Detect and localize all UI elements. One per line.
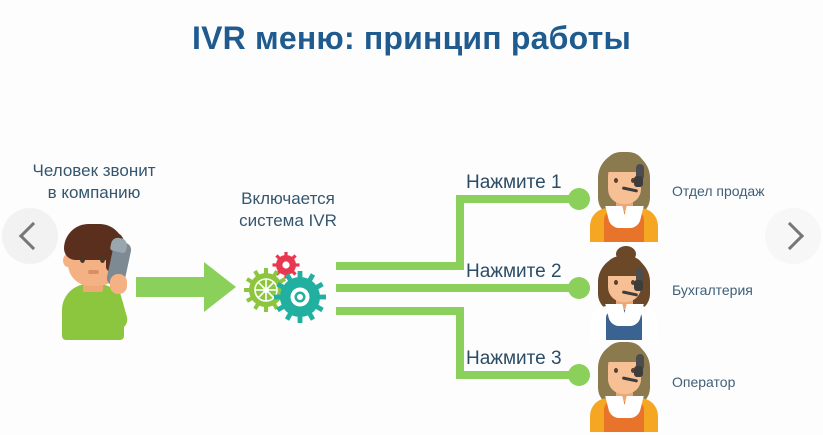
stage2-label: Включается система IVR [212, 188, 364, 232]
operator-orange-icon [588, 148, 660, 240]
wire-branch-1 [456, 195, 584, 203]
wire-trunk-bottom [336, 307, 464, 315]
stage1-label: Человек звонит в компанию [6, 160, 182, 204]
person-calling-icon [48, 222, 140, 340]
branch-3-department-label: Оператор [672, 371, 735, 393]
wire-riser-up [456, 195, 464, 267]
stage1-label-line1: Человек звонит [6, 160, 182, 182]
branch-2-press-label: Нажмите 2 [466, 261, 562, 283]
slide-stage: IVR меню: принцип работы Человек звонит … [0, 0, 823, 435]
branch-2-department-label: Бухгалтерия [672, 279, 753, 301]
stage2-label-line1: Включается [212, 188, 364, 210]
wire-branch-3 [456, 371, 584, 379]
operator-orange-icon [588, 338, 660, 430]
page-title: IVR меню: принцип работы [0, 20, 823, 57]
branch-1-endpoint-dot [568, 188, 590, 210]
branch-1-press-label: Нажмите 1 [466, 172, 562, 194]
branch-3-press-label: Нажмите 3 [466, 348, 562, 370]
branch-1-department-label: Отдел продаж [672, 180, 765, 202]
chevron-left-icon [19, 222, 47, 250]
branch-2-endpoint-dot [568, 277, 590, 299]
stage2-label-line2: система IVR [212, 210, 364, 232]
carousel-next-button[interactable] [765, 208, 821, 264]
branch-3-endpoint-dot [568, 364, 590, 386]
wire-branch-2 [336, 284, 584, 292]
wire-trunk-top [336, 262, 464, 270]
stage1-label-line2: в компанию [6, 182, 182, 204]
operator-blue-icon [588, 246, 660, 338]
wire-riser-down [456, 307, 464, 375]
gears-icon [242, 252, 334, 324]
chevron-right-icon [776, 222, 804, 250]
